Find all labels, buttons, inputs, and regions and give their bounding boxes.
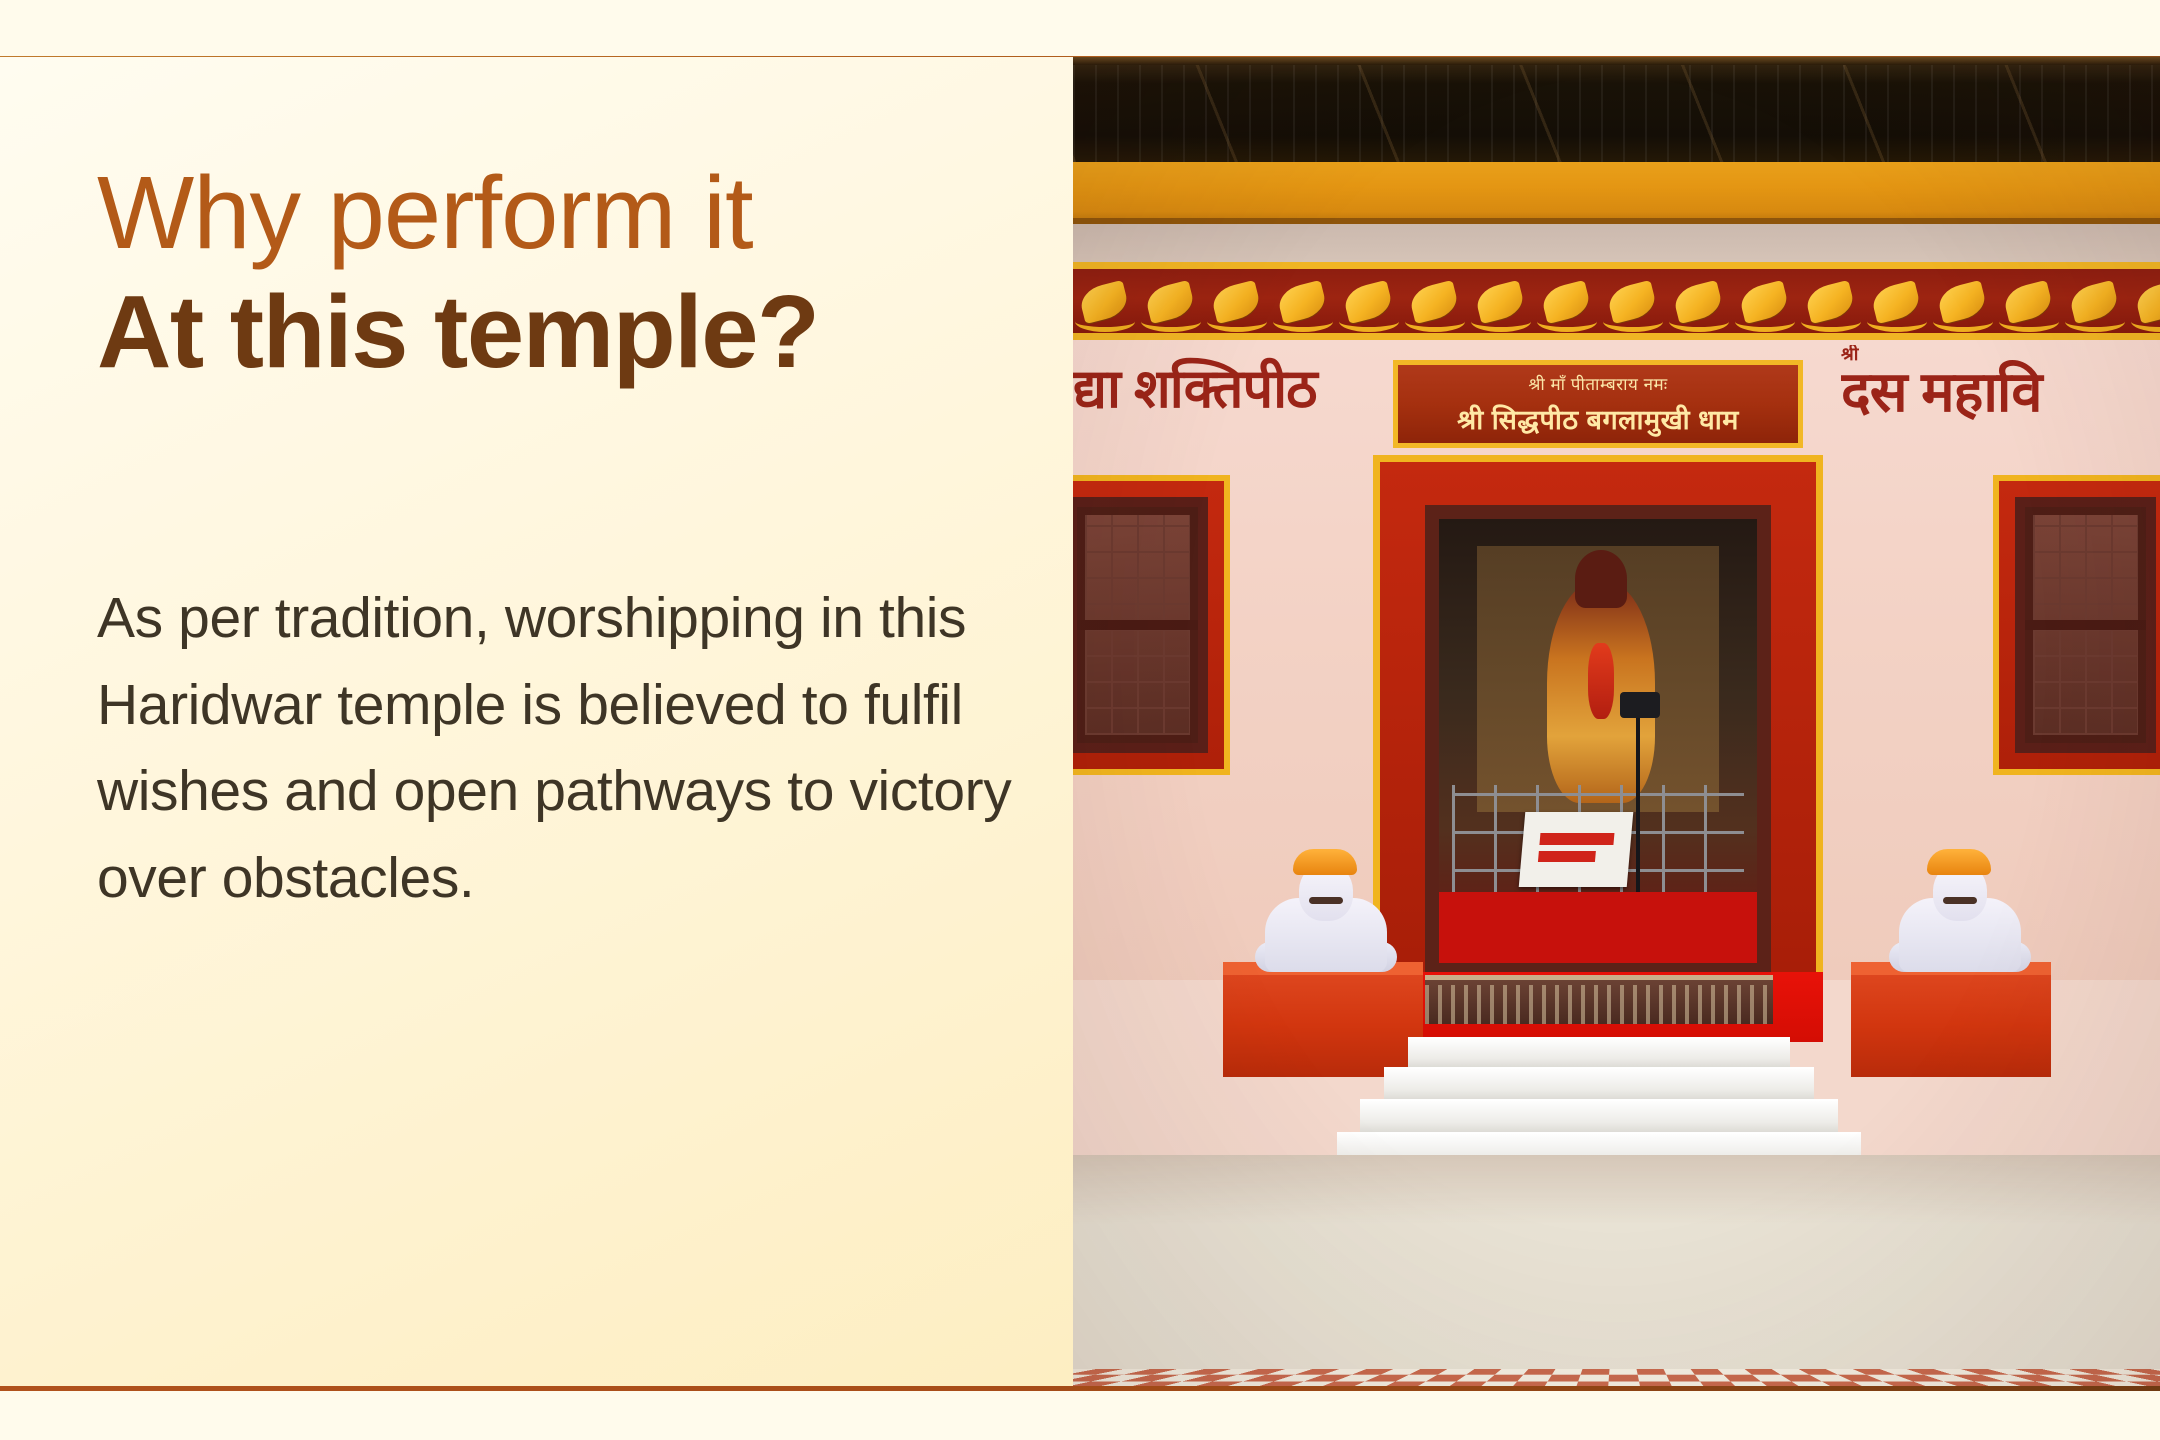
leaf-ornament-icon <box>2063 275 2129 333</box>
step-2 <box>1384 1067 1814 1101</box>
pedestal-right <box>1851 962 2051 1077</box>
window-right-grille <box>2015 497 2156 753</box>
signboard-top-line: श्री मॉं पीताम्बराय नमः <box>1528 372 1667 395</box>
window-right <box>1993 475 2160 775</box>
sanctum-interior <box>1439 519 1757 963</box>
window-left-grille <box>1073 497 1208 753</box>
bottom-divider-rule <box>0 1386 2160 1391</box>
amber-fascia-band <box>1073 162 2160 224</box>
leaf-ornament-icon <box>1469 275 1535 333</box>
leaf-ornament-icon <box>1865 275 1931 333</box>
statue-left-turban <box>1293 849 1357 875</box>
leaf-ornament-icon <box>1535 275 1601 333</box>
leaf-ornament-icon <box>1997 275 2063 333</box>
leaf-ornament-icon <box>1733 275 1799 333</box>
headline-line-2: At this temple? <box>97 276 1027 387</box>
leaf-ornament-icon <box>1205 275 1271 333</box>
leaf-ornament-icon <box>1931 275 1997 333</box>
leaf-ornament-icon <box>1271 275 1337 333</box>
leaf-ornament-icon <box>1667 275 1733 333</box>
checkered-floor <box>1073 1155 2160 1386</box>
body-paragraph: As per tradition, worshipping in this Ha… <box>97 575 1042 922</box>
wall-sign-left: द्या शक्तिपीठ <box>1073 349 1373 421</box>
leaf-ornament-icon <box>1799 275 1865 333</box>
leaf-ornament-icon <box>1601 275 1667 333</box>
statue-left-moustache <box>1309 897 1343 904</box>
roof-edge <box>1073 57 2160 65</box>
wall-sign-right: श्री दस महावि <box>1841 345 2160 425</box>
notice-board <box>1518 812 1633 887</box>
window-left <box>1073 475 1230 775</box>
floor-shadow <box>1073 1155 2160 1386</box>
temple-photo: द्या शक्तिपीठ श्री दस महावि श्री मॉं पीत… <box>1073 57 2160 1386</box>
roof-braces <box>1073 57 2160 162</box>
step-3 <box>1360 1099 1838 1134</box>
headline-line-1: Why perform it <box>97 161 1027 264</box>
sanctum-red-floor <box>1439 892 1757 963</box>
left-text-panel: Why perform it At this temple? As per tr… <box>0 57 1073 1386</box>
sanctum-doorway <box>1425 505 1771 977</box>
leaf-ornament-icon <box>1073 275 1139 333</box>
sadhu-statue-right <box>1885 847 2035 972</box>
leaf-ornament-icon <box>2129 275 2160 333</box>
frieze-leaf-row <box>1073 275 2160 337</box>
headline-block: Why perform it At this temple? <box>97 161 1027 387</box>
slide-canvas: Why perform it At this temple? As per tr… <box>0 0 2160 1440</box>
leaf-ornament-icon <box>1337 275 1403 333</box>
gold-leaf-frieze <box>1073 262 2160 340</box>
temple-signboard: श्री मॉं पीताम्बराय नमः श्री सिद्धपीठ बग… <box>1393 360 1803 448</box>
step-1 <box>1408 1037 1790 1069</box>
marble-steps <box>1341 1037 1857 1167</box>
statue-right-turban <box>1927 849 1991 875</box>
entrance-doormat <box>1425 975 1773 1024</box>
signboard-main-line: श्री सिद्धपीठ बगलामुखी धाम <box>1457 400 1739 437</box>
statue-right-moustache <box>1943 897 1977 904</box>
sadhu-statue-left <box>1251 847 1401 972</box>
roof-canopy <box>1073 57 2160 162</box>
leaf-ornament-icon <box>1403 275 1469 333</box>
leaf-ornament-icon <box>1139 275 1205 333</box>
wall-sign-right-big: दस महावि <box>1841 363 2160 422</box>
